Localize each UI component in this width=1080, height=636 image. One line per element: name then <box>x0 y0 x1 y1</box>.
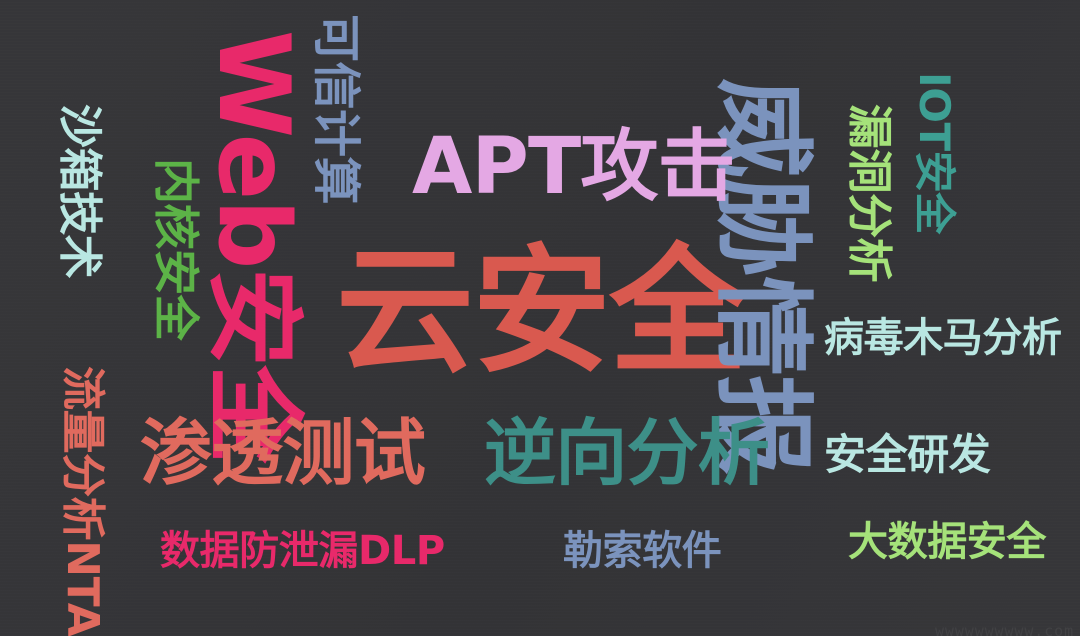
word-cloud-term: 漏洞分析 <box>847 104 892 282</box>
word-cloud-term: 逆向分析 <box>484 417 769 489</box>
word-cloud-term: 渗透测试 <box>140 417 425 489</box>
word-cloud-term: 内核安全 <box>153 158 199 340</box>
word-cloud-term: IOT安全 <box>913 72 955 234</box>
word-cloud-term: 云安全 <box>336 243 746 381</box>
word-cloud-canvas: 云安全威胁情报Web安全APT攻击渗透测试逆向分析可信计算内核安全沙箱技术流量分… <box>0 0 1080 636</box>
word-cloud-term: 流量分析NTA <box>60 366 104 636</box>
watermark-text: wwwwwwwwww.com <box>935 622 1074 636</box>
word-cloud-term: 病毒木马分析 <box>824 318 1062 358</box>
word-cloud-term: Web安全 <box>204 30 302 462</box>
word-cloud-term: 数据防泄漏DLP <box>160 531 445 571</box>
word-cloud-term: 安全研发 <box>824 434 990 476</box>
word-cloud-term: 大数据安全 <box>848 522 1046 562</box>
word-cloud-term: APT攻击 <box>412 128 735 206</box>
word-cloud-term: 勒索软件 <box>563 531 721 571</box>
word-cloud-term: 可信计算 <box>312 14 360 204</box>
word-cloud-term: 沙箱技术 <box>57 104 101 278</box>
